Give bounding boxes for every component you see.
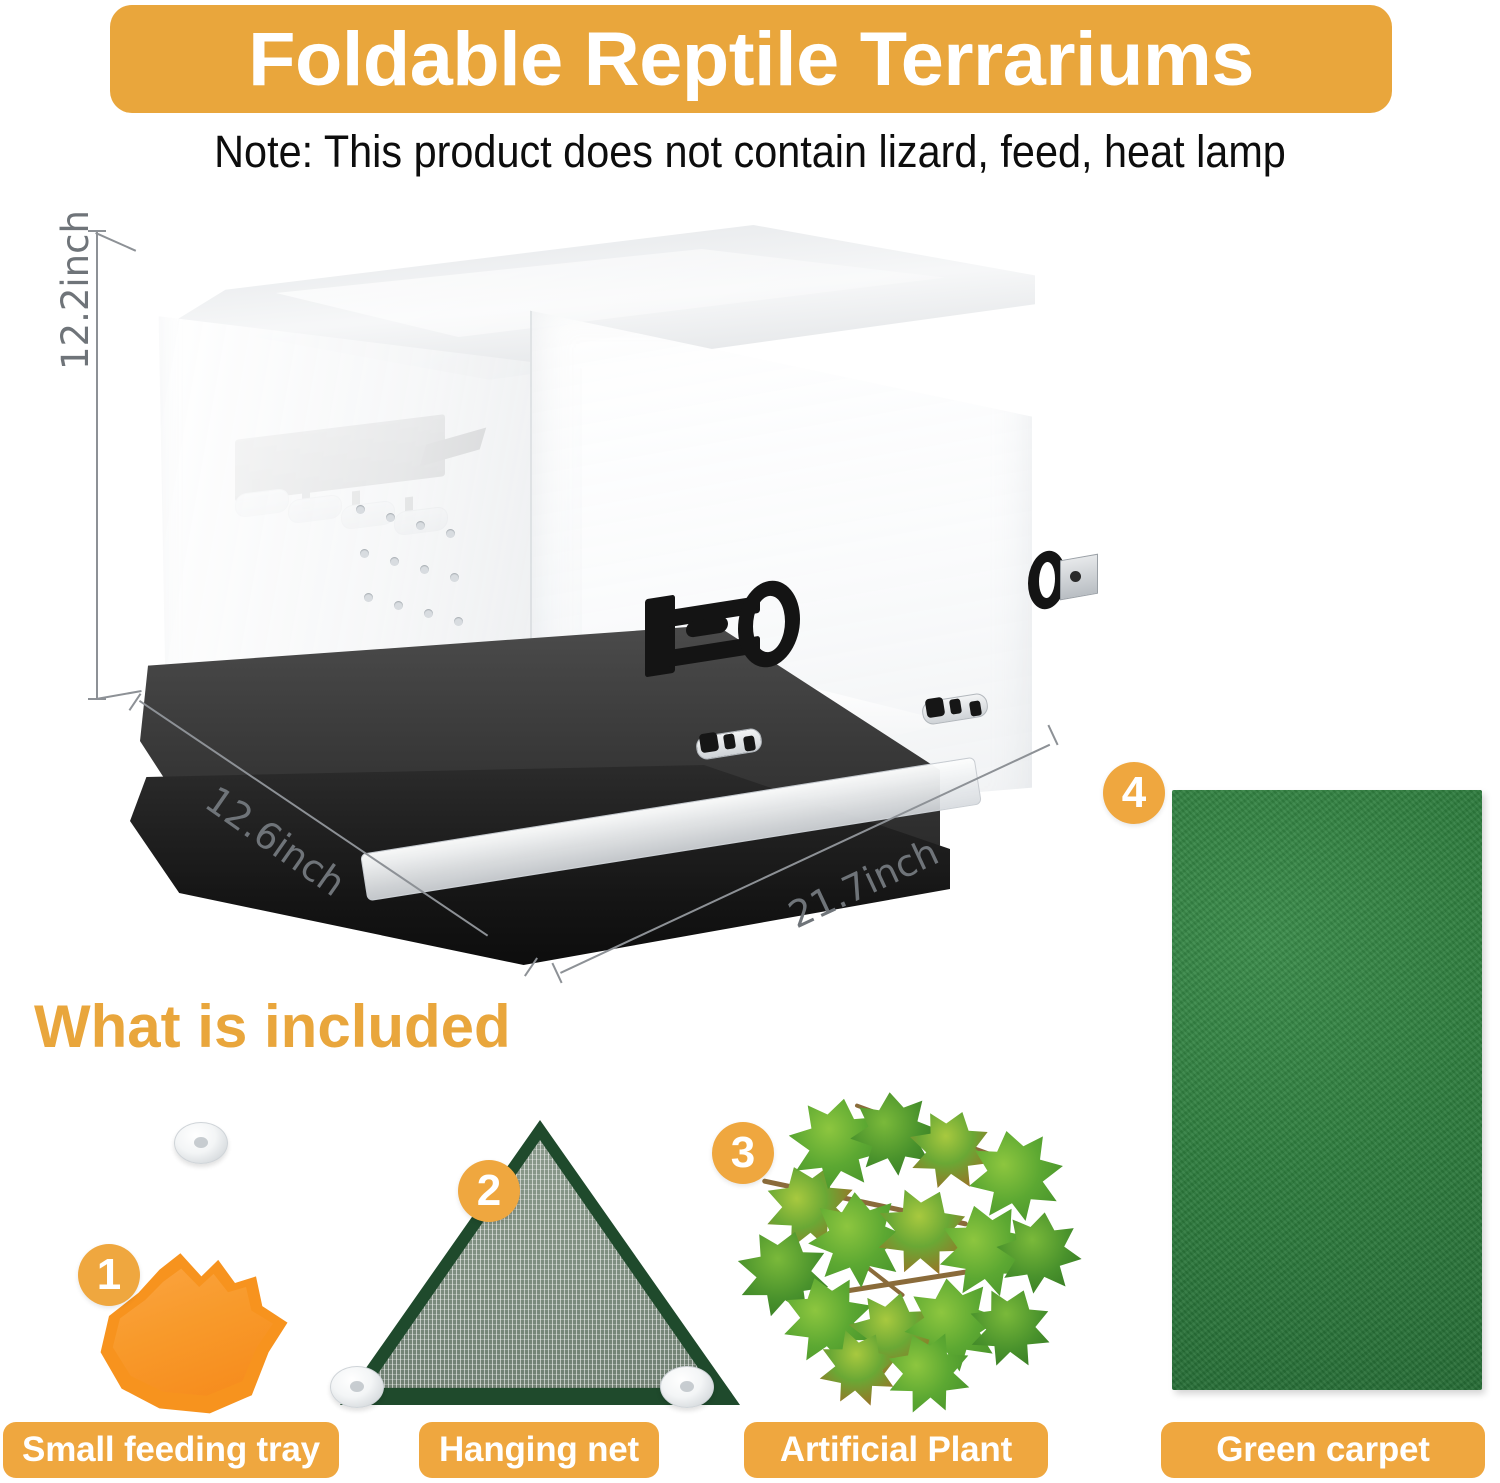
rail-slider-knob[interactable] bbox=[743, 735, 756, 752]
product-photo bbox=[60, 205, 1090, 995]
rail-slider-knob[interactable] bbox=[723, 733, 736, 750]
page-title: Foldable Reptile Terrariums bbox=[248, 16, 1254, 103]
rail-slider-knob[interactable] bbox=[925, 697, 946, 719]
net-mesh bbox=[340, 1120, 740, 1405]
vent-hole bbox=[416, 521, 425, 530]
item-badge-1: 1 bbox=[78, 1244, 140, 1306]
caption-small-feeding-tray: Small feeding tray bbox=[3, 1422, 339, 1478]
suction-cup-icon bbox=[330, 1366, 384, 1408]
item-badge-3: 3 bbox=[712, 1122, 774, 1184]
vent-hole bbox=[420, 565, 429, 574]
rail-slider-knob[interactable] bbox=[949, 698, 962, 715]
caption-hanging-net: Hanging net bbox=[419, 1422, 659, 1478]
green-carpet-image bbox=[1172, 790, 1482, 1390]
included-heading: What is included bbox=[34, 992, 511, 1061]
vent-hole bbox=[390, 557, 399, 566]
vent-hole bbox=[454, 617, 463, 626]
vent-hole bbox=[450, 573, 459, 582]
dimension-label-height: 12.2inch bbox=[54, 210, 97, 370]
vent-hole bbox=[364, 593, 373, 602]
vent-hole bbox=[394, 601, 403, 610]
item-badge-4: 4 bbox=[1103, 762, 1165, 824]
note-text: Note: This product does not contain liza… bbox=[60, 126, 1440, 178]
suction-cup-icon bbox=[174, 1122, 228, 1164]
vent-hole bbox=[424, 609, 433, 618]
suction-cup-icon bbox=[660, 1366, 714, 1408]
rail-slider-knob[interactable] bbox=[969, 700, 982, 717]
vent-hole bbox=[386, 513, 395, 522]
vent-hole bbox=[356, 505, 365, 514]
hanging-net-image bbox=[340, 1120, 740, 1405]
vent-hole bbox=[446, 529, 455, 538]
caption-artificial-plant: Artificial Plant bbox=[744, 1422, 1048, 1478]
vent-hole bbox=[360, 549, 369, 558]
rail-slider-knob[interactable] bbox=[699, 732, 720, 754]
item-badge-2: 2 bbox=[458, 1160, 520, 1222]
title-banner: Foldable Reptile Terrariums bbox=[110, 5, 1392, 113]
caption-green-carpet: Green carpet bbox=[1161, 1422, 1485, 1478]
secondary-latch-screw bbox=[1070, 571, 1081, 582]
